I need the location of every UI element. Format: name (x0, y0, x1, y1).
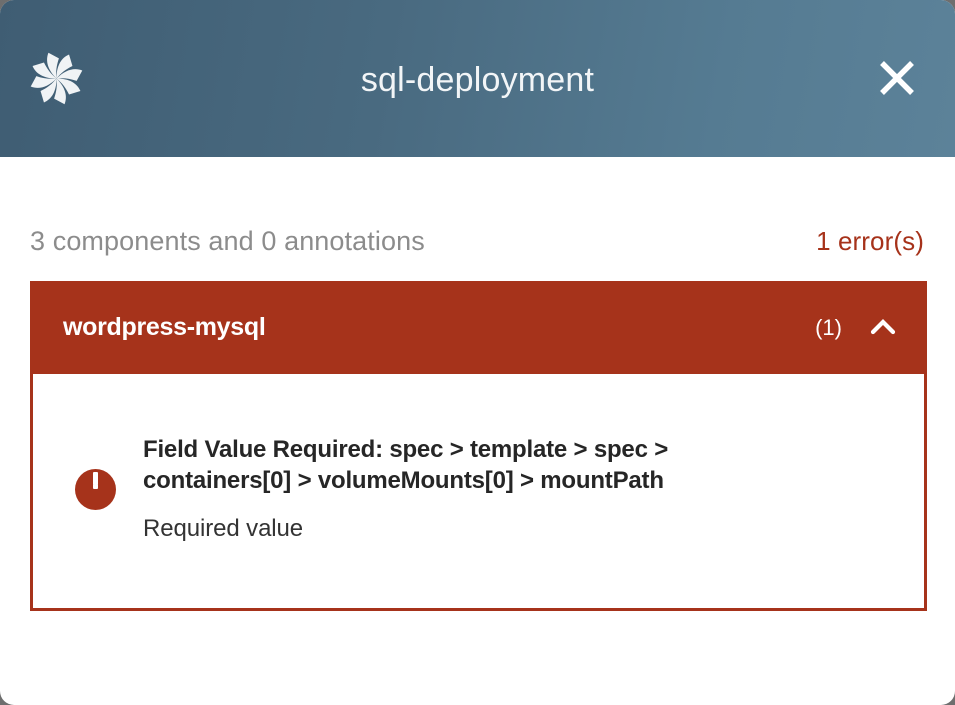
error-group-count: (1) (815, 315, 842, 341)
errors-count-label: 1 error(s) (816, 226, 925, 257)
summary-row: 3 components and 0 annotations 1 error(s… (30, 157, 925, 257)
exclamation-glyph (93, 476, 98, 502)
modal-body: 3 components and 0 annotations 1 error(s… (0, 157, 955, 611)
error-group-name: wordpress-mysql (63, 313, 815, 342)
error-detail: Required value (143, 513, 894, 544)
error-exclamation-icon (75, 469, 116, 510)
components-count-label: 3 components and 0 annotations (30, 226, 425, 257)
validation-modal: sql-deployment 3 components and 0 annota… (0, 0, 955, 705)
error-title: Field Value Required: spec > template > … (143, 434, 743, 498)
error-text-block: Field Value Required: spec > template > … (143, 434, 894, 545)
error-icon-wrapper (73, 469, 117, 510)
error-group-body: Field Value Required: spec > template > … (30, 374, 927, 611)
error-group: wordpress-mysql (1) (30, 281, 927, 611)
error-group-header[interactable]: wordpress-mysql (1) (30, 281, 927, 374)
collapse-toggle-button[interactable] (866, 311, 900, 345)
pinwheel-logo-icon (28, 50, 85, 107)
close-button[interactable] (871, 52, 923, 104)
chevron-up-icon (868, 313, 898, 343)
close-icon (875, 56, 919, 100)
modal-header: sql-deployment (0, 0, 955, 157)
modal-title: sql-deployment (0, 61, 955, 97)
